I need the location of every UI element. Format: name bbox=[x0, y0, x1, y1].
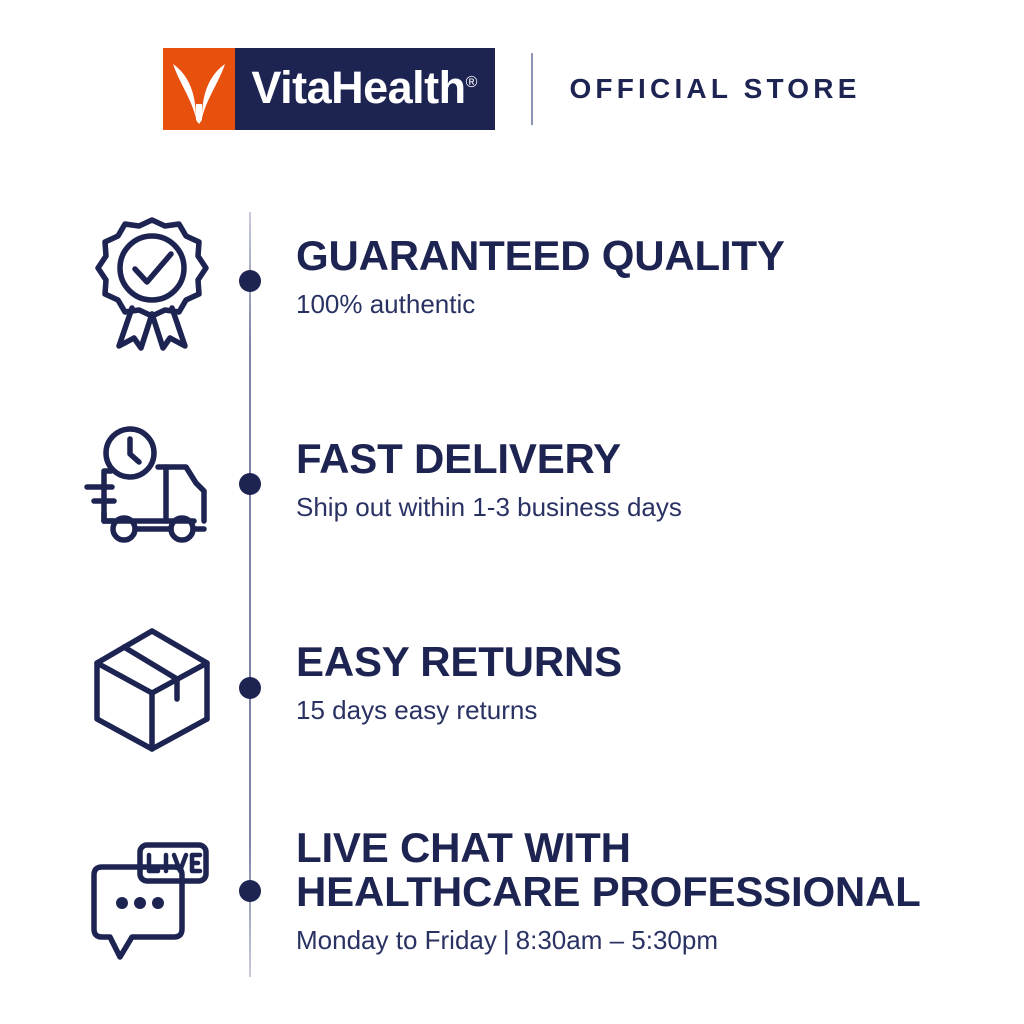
brand-header: VitaHealth® OFFICIAL STORE bbox=[0, 46, 1024, 132]
official-store-label: OFFICIAL STORE bbox=[569, 73, 860, 105]
brand-name-text: VitaHealth bbox=[251, 62, 465, 113]
timeline-dot-delivery bbox=[239, 473, 261, 495]
livechat-hours: 8:30am – 5:30pm bbox=[516, 925, 718, 955]
timeline-dot-quality bbox=[239, 270, 261, 292]
feature-text-returns: EASY RETURNS 15 days easy returns bbox=[296, 640, 622, 727]
shipping-box-icon bbox=[82, 618, 222, 758]
feature-text-delivery: FAST DELIVERY Ship out within 1-3 busine… bbox=[296, 437, 682, 524]
live-chat-bubble-icon bbox=[82, 832, 222, 972]
timeline-dot-livechat bbox=[239, 880, 261, 902]
fast-delivery-truck-clock-icon bbox=[82, 415, 222, 555]
registered-trademark-symbol: ® bbox=[466, 74, 478, 91]
feature-subtitle-returns: 15 days easy returns bbox=[296, 694, 622, 727]
feature-title-livechat-line1: LIVE CHAT WITH bbox=[296, 826, 921, 870]
feature-title-delivery: FAST DELIVERY bbox=[296, 437, 682, 481]
feature-title-returns: EASY RETURNS bbox=[296, 640, 622, 684]
feature-text-quality: GUARANTEED QUALITY 100% authentic bbox=[296, 234, 785, 321]
brand-name: VitaHealth® bbox=[251, 65, 477, 110]
timeline-dot-returns bbox=[239, 677, 261, 699]
vitahealth-wordmark: VitaHealth® bbox=[235, 48, 495, 130]
vitahealth-leaf-v-icon bbox=[163, 48, 235, 130]
promo-banner: VitaHealth® OFFICIAL STORE GUARANTEED QU… bbox=[0, 0, 1024, 1024]
header-divider bbox=[531, 53, 533, 125]
feature-title-quality: GUARANTEED QUALITY bbox=[296, 234, 785, 278]
feature-title-livechat-line2: HEALTHCARE PROFESSIONAL bbox=[296, 870, 921, 914]
feature-text-livechat: LIVE CHAT WITH HEALTHCARE PROFESSIONAL M… bbox=[296, 826, 921, 957]
livechat-separator: | bbox=[497, 925, 516, 955]
vitahealth-logo[interactable]: VitaHealth® bbox=[163, 48, 495, 130]
feature-subtitle-livechat: Monday to Friday|8:30am – 5:30pm bbox=[296, 924, 921, 957]
timeline-connector-line bbox=[249, 212, 251, 977]
livechat-days: Monday to Friday bbox=[296, 925, 497, 955]
quality-badge-check-icon bbox=[82, 212, 222, 352]
feature-subtitle-delivery: Ship out within 1-3 business days bbox=[296, 491, 682, 524]
feature-subtitle-quality: 100% authentic bbox=[296, 288, 785, 321]
